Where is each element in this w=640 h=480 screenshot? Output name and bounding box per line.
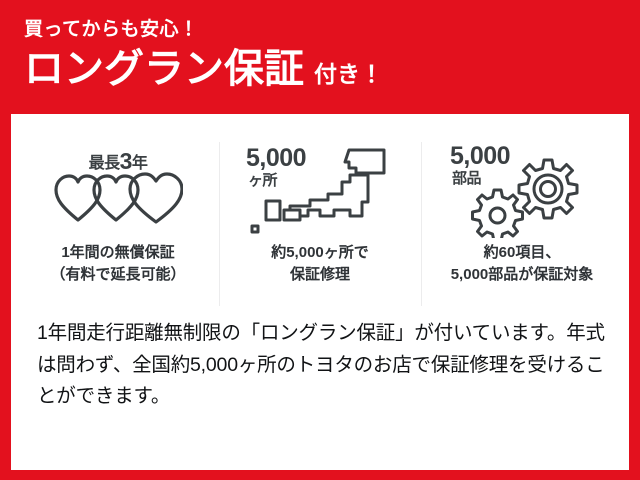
caption-line-2: （有料で延長可能） (50, 264, 185, 286)
covered-parts-unit: 部品 (452, 171, 481, 186)
warranty-term-label: 最長3年 (38, 150, 198, 173)
headline-main: ロングラン保証 (24, 49, 304, 89)
body-text-area: 1年間走行距離無制限の「ロングラン保証」が付いています。年式は問わず、全国約5,… (11, 312, 629, 470)
feature-icon-area: 5,000 ヶ所 (223, 140, 417, 236)
feature-caption: 1年間の無償保証 （有料で延長可能） (50, 242, 185, 286)
covered-parts-number: 5,000 (450, 144, 510, 169)
caption-line-1: 約60項目、 (451, 242, 594, 264)
warranty-term-suffix: 年 (132, 155, 148, 172)
headline-row: ロングラン保証 付き！ (24, 49, 640, 89)
caption-line-2: 保証修理 (271, 264, 369, 286)
feature-service-locations: 5,000 ヶ所 約5,000ヶ所で 保証修理 (219, 140, 421, 312)
service-locations-number: 5,000 (246, 146, 306, 171)
feature-covered-parts: 5,000 部品 約60項目、 5,000部品が保証対象 (421, 140, 623, 312)
caption-line-1: 約5,000ヶ所で (271, 242, 369, 264)
warranty-promo-banner: 買ってからも安心！ ロングラン保証 付き！ 最長3年 (0, 0, 640, 480)
warranty-term-prefix: 最長 (89, 155, 120, 172)
three-hearts-icon (53, 172, 183, 224)
header-kicker: 買ってからも安心！ (24, 20, 640, 39)
banner-header: 買ってからも安心！ ロングラン保証 付き！ (0, 0, 640, 114)
feature-caption: 約5,000ヶ所で 保証修理 (271, 242, 369, 286)
caption-line-1: 1年間の無償保証 (50, 242, 185, 264)
feature-columns: 最長3年 1年間の無償保証 （有料で延長可能） (11, 114, 629, 312)
warranty-term-number: 3 (120, 148, 132, 174)
feature-warranty-term: 最長3年 1年間の無償保証 （有料で延長可能） (17, 140, 219, 312)
feature-icon-area: 5,000 部品 (425, 140, 619, 236)
caption-line-2: 5,000部品が保証対象 (451, 264, 594, 286)
feature-caption: 約60項目、 5,000部品が保証対象 (451, 242, 594, 286)
body-paragraph: 1年間走行距離無制限の「ロングラン保証」が付いています。年式は問わず、全国約5,… (37, 318, 607, 413)
service-locations-unit: ヶ所 (248, 173, 277, 188)
content-card: 最長3年 1年間の無償保証 （有料で延長可能） (11, 114, 629, 470)
feature-icon-area: 最長3年 (21, 140, 215, 236)
headline-suffix: 付き！ (314, 63, 383, 86)
